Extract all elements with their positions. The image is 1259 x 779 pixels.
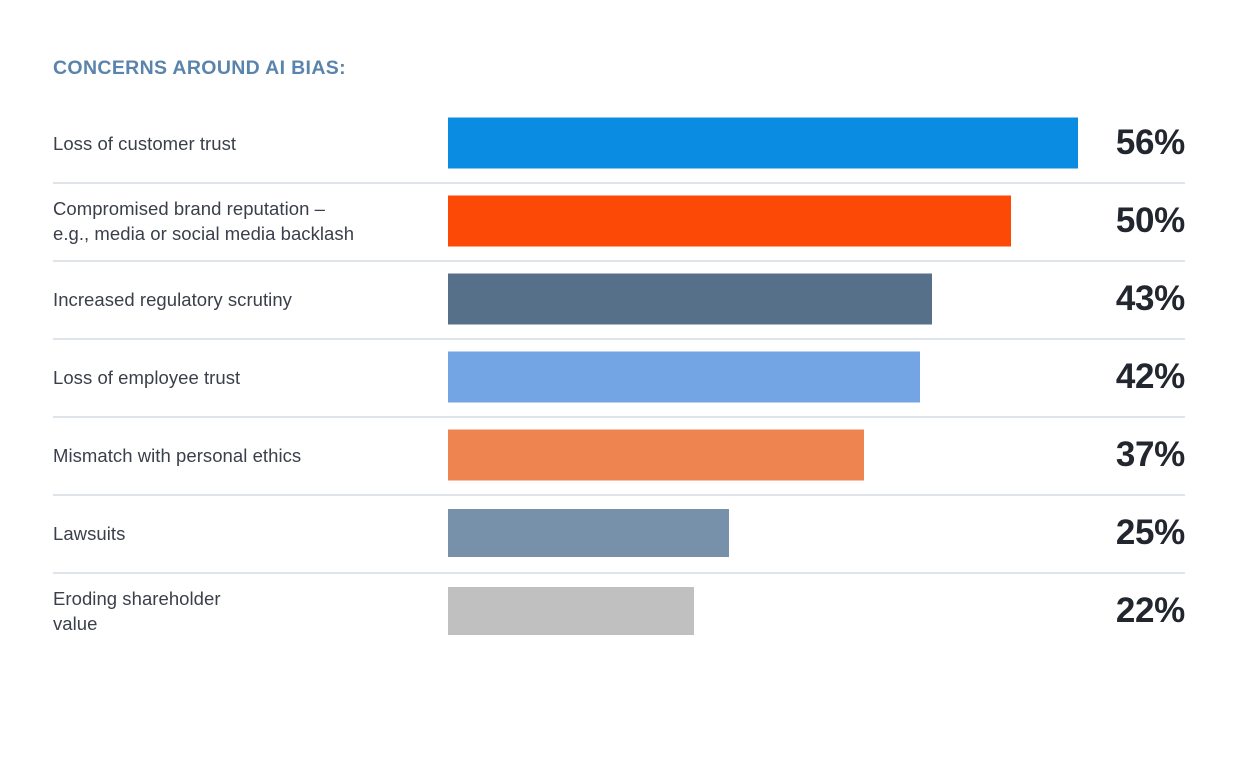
label-line: Loss of employee trust	[53, 365, 433, 390]
chart-row: Loss of customer trust 56%	[0, 104, 1259, 182]
bar-eroding-shareholder-value	[448, 587, 694, 635]
bar-value-label: 56%	[1089, 104, 1185, 182]
bar-category-label: Lawsuits	[53, 494, 433, 572]
bar-value-label: 22%	[1089, 572, 1185, 650]
chart-row: Compromised brand reputation – e.g., med…	[0, 182, 1259, 260]
label-line: value	[53, 611, 433, 636]
bar-category-label: Compromised brand reputation – e.g., med…	[53, 182, 433, 260]
chart-row: Mismatch with personal ethics 37%	[0, 416, 1259, 494]
bar-value-label: 42%	[1089, 338, 1185, 416]
chart-row: Loss of employee trust 42%	[0, 338, 1259, 416]
chart-row: Eroding shareholder value 22%	[0, 572, 1259, 650]
label-line: Compromised brand reputation –	[53, 196, 433, 221]
bar-chart-rows: Loss of customer trust 56% Compromised b…	[0, 104, 1259, 650]
label-line: Loss of customer trust	[53, 131, 433, 156]
bar-loss-of-employee-trust	[448, 352, 920, 403]
bar-loss-of-customer-trust	[448, 118, 1078, 169]
label-line: Lawsuits	[53, 521, 433, 546]
bar-value-label: 25%	[1089, 494, 1185, 572]
bar-category-label: Loss of employee trust	[53, 338, 433, 416]
bar-lawsuits	[448, 509, 729, 557]
bar-value-label: 50%	[1089, 182, 1185, 260]
label-line: Mismatch with personal ethics	[53, 443, 433, 468]
bar-compromised-brand-reputation	[448, 196, 1011, 247]
bar-category-label: Loss of customer trust	[53, 104, 433, 182]
bar-category-label: Eroding shareholder value	[53, 572, 433, 650]
bar-mismatch-with-personal-ethics	[448, 430, 864, 481]
bar-chart-figure: CONCERNS AROUND AI BIAS: Loss of custome…	[0, 0, 1259, 779]
bar-category-label: Mismatch with personal ethics	[53, 416, 433, 494]
bar-category-label: Increased regulatory scrutiny	[53, 260, 433, 338]
chart-row: Lawsuits 25%	[0, 494, 1259, 572]
bar-increased-regulatory-scrutiny	[448, 274, 932, 325]
chart-row: Increased regulatory scrutiny 43%	[0, 260, 1259, 338]
label-line: Eroding shareholder	[53, 586, 433, 611]
label-line: e.g., media or social media backlash	[53, 221, 433, 246]
bar-value-label: 43%	[1089, 260, 1185, 338]
bar-value-label: 37%	[1089, 416, 1185, 494]
label-line: Increased regulatory scrutiny	[53, 287, 433, 312]
chart-title: CONCERNS AROUND AI BIAS:	[53, 57, 346, 80]
